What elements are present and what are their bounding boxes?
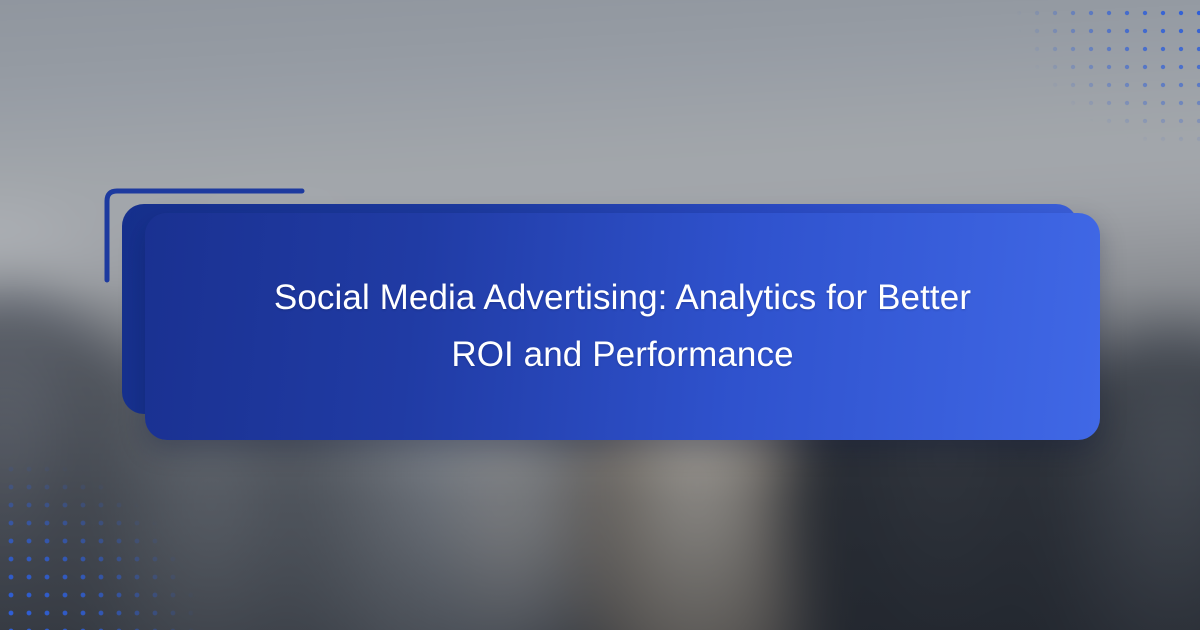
- title-card: Social Media Advertising: Analytics for …: [145, 213, 1100, 440]
- banner-canvas: Social Media Advertising: Analytics for …: [0, 0, 1200, 630]
- page-title: Social Media Advertising: Analytics for …: [154, 270, 1091, 383]
